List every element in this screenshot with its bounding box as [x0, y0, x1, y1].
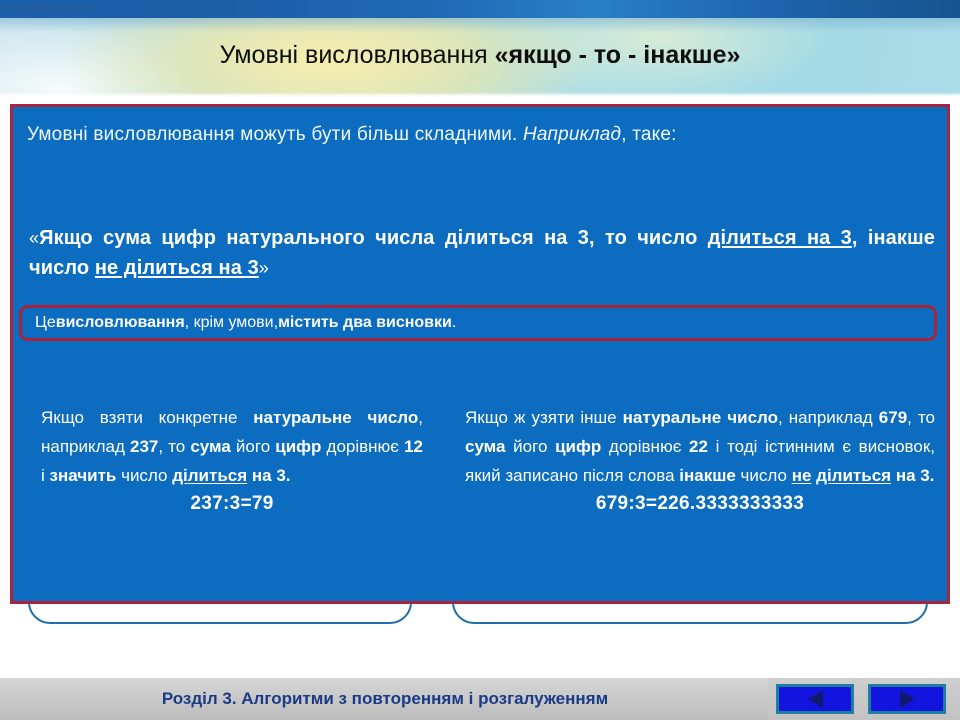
intro-text-part2: , таке: — [621, 124, 676, 145]
quote-close-guillemet: » — [259, 258, 269, 278]
prev-slide-button[interactable] — [776, 684, 854, 714]
right-text-10: на 3. — [891, 466, 934, 485]
right-text-8: число — [736, 466, 792, 485]
right-bold-5: цифр — [555, 437, 601, 456]
intro-text-italic: Наприклад — [523, 124, 621, 145]
page-title-bold: «якщо - то - інакше» — [495, 41, 741, 69]
left-text-7: і — [41, 466, 50, 485]
slide-root: Інформатика.ру Умовні висловлювання «якщ… — [0, 0, 960, 720]
right-bold-3: 679 — [879, 408, 907, 427]
right-text-4: , то — [907, 408, 935, 427]
left-text-2 — [352, 408, 368, 427]
triangle-right-icon — [900, 690, 915, 708]
brand-watermark: Інформатика.ру — [8, 2, 90, 14]
left-bold-2: число — [368, 408, 419, 427]
triangle-left-icon — [808, 690, 823, 708]
footer-chapter-label: Розділ 3. Алгоритми з повторенням і розг… — [0, 687, 770, 711]
explanation-column-left: Якщо взяти конкретне натуральне число, н… — [41, 403, 423, 517]
footer-nav-group — [768, 678, 960, 720]
right-bold-6: 22 — [689, 437, 708, 456]
right-underline-1: не — [792, 466, 812, 485]
note-text-2: , крім умови, — [185, 314, 278, 332]
note-bold-1: висловлювання — [56, 314, 185, 332]
explanation-columns: Якщо взяти конкретне натуральне число, н… — [13, 403, 947, 601]
slide-header: Інформатика.ру Умовні висловлювання «якщ… — [0, 0, 960, 96]
right-bold-7: інакше — [679, 466, 736, 485]
left-calculation: 237:3=79 — [41, 491, 423, 517]
quote-conclusion-2: не ділиться на 3 — [95, 257, 259, 279]
left-bold-6: 12 — [404, 437, 423, 456]
header-top-fade — [0, 18, 960, 32]
quote-conclusion-1: ділиться на 3 — [708, 227, 852, 249]
next-slide-button[interactable] — [868, 684, 946, 714]
right-bold-2: число — [727, 408, 778, 427]
left-text-8: число — [116, 466, 172, 485]
left-bold-3: 237 — [130, 437, 158, 456]
quote-condition-text: Якщо сума цифр натурального числа ділить… — [39, 227, 708, 249]
left-text-9: на 3. — [247, 466, 290, 485]
quote-open-guillemet: « — [29, 228, 39, 248]
left-text-4: , то — [158, 437, 190, 456]
header-bottom-divider — [0, 92, 960, 96]
intro-paragraph: Умовні висловлювання можуть бути більш с… — [27, 119, 935, 151]
main-content-panel: Умовні висловлювання можуть бути більш с… — [10, 104, 950, 604]
left-text-1: Якщо взяти конкретне — [41, 408, 253, 427]
right-calculation: 679:3=226.3333333333 — [465, 491, 935, 517]
right-text-5: його — [506, 437, 556, 456]
page-title-plain: Умовні висловлювання — [220, 41, 495, 69]
right-underline-2: ділиться — [816, 466, 891, 485]
example-statement-quote: «Якщо сума цифр натурального числа ділит… — [29, 223, 935, 283]
left-underline-1: ділиться — [172, 466, 247, 485]
left-bold-7: значить — [50, 466, 117, 485]
right-text-6: дорівнює — [601, 437, 689, 456]
left-bold-4: сума — [190, 437, 231, 456]
right-text-1: Якщо ж узяти інше — [465, 408, 623, 427]
page-title: Умовні висловлювання «якщо - то - інакше… — [0, 40, 960, 70]
note-text-3: . — [452, 314, 456, 332]
left-bold-1: натуральне — [253, 408, 352, 427]
note-bold-2: містить два висновки — [278, 314, 452, 332]
right-bold-4: сума — [465, 437, 506, 456]
note-text-1: Це — [35, 314, 56, 332]
explanation-column-right: Якщо ж узяти інше натуральне число, напр… — [465, 403, 935, 517]
left-bold-5: цифр — [275, 437, 321, 456]
left-text-5: його — [231, 437, 275, 456]
right-text-3: , наприклад — [778, 408, 879, 427]
slide-footer: Розділ 3. Алгоритми з повторенням і розг… — [0, 678, 960, 720]
intro-text-part1: Умовні висловлювання можуть бути більш с… — [27, 124, 523, 145]
left-text-6: дорівнює — [321, 437, 404, 456]
right-bold-1: натуральне — [623, 408, 722, 427]
note-callout-box: Це висловлювання, крім умови, містить дв… — [19, 305, 937, 341]
